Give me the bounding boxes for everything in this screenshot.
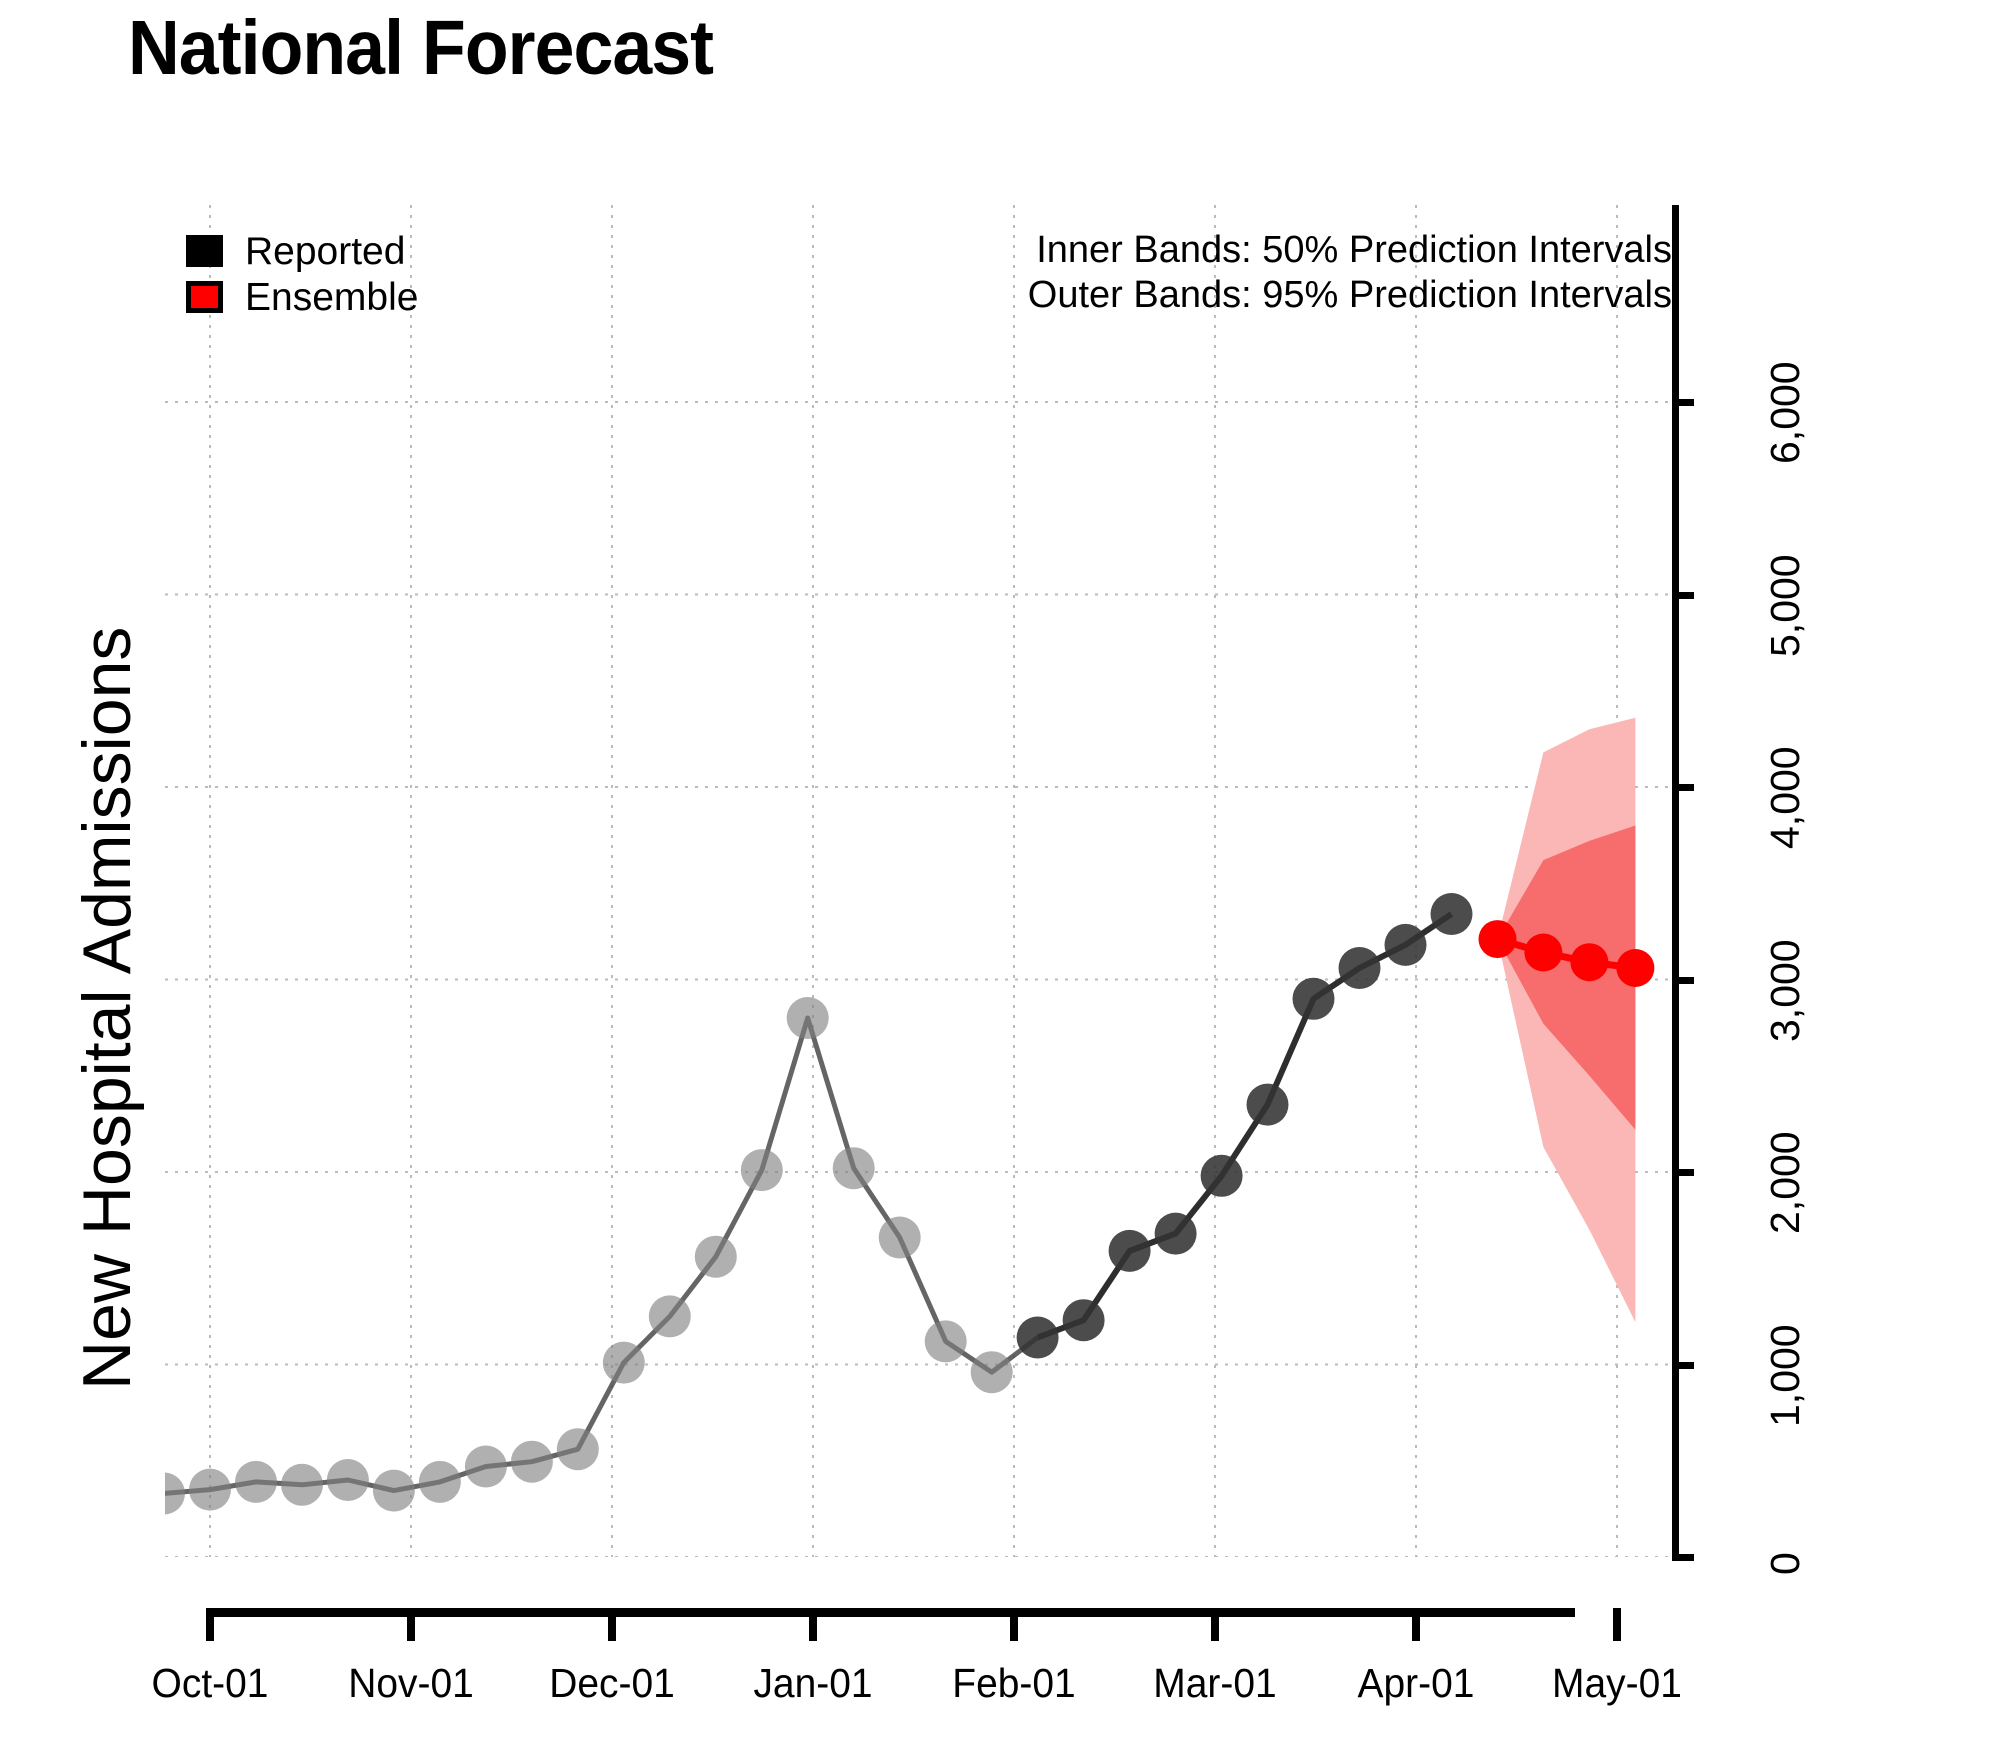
- x-axis-tick-label: Oct-01: [152, 1660, 269, 1707]
- reported-data-point: [373, 1470, 415, 1512]
- x-axis-tick: [809, 1608, 817, 1641]
- x-axis-tick-label: Feb-01: [952, 1660, 1075, 1707]
- reported-data-point: [1109, 1230, 1151, 1272]
- reported-data-point: [1431, 893, 1473, 935]
- x-axis-tick-label: Jan-01: [753, 1660, 872, 1707]
- ensemble-data-point: [1616, 949, 1654, 987]
- reported-data-point: [695, 1236, 737, 1278]
- x-axis-tick-label: Mar-01: [1153, 1660, 1276, 1707]
- x-axis-tick: [1010, 1608, 1018, 1641]
- reported-data-point: [235, 1461, 277, 1503]
- x-axis-tick-label: Nov-01: [348, 1660, 474, 1707]
- plot-area: [165, 205, 1672, 1557]
- y-axis-tick-label: 0: [1762, 1552, 1809, 1575]
- pi-note-line-outer: Outer Bands: 95% Prediction Intervals: [1028, 273, 1672, 318]
- legend-label-ensemble: Ensemble: [245, 278, 418, 317]
- x-axis-tick: [1211, 1608, 1219, 1641]
- legend: Reported Ensemble: [186, 228, 418, 320]
- reported-data-point: [787, 997, 829, 1039]
- x-axis-tick-label: Apr-01: [1358, 1660, 1475, 1707]
- y-axis-tick: [1672, 977, 1694, 984]
- y-axis-tick-label: 2,000: [1762, 1131, 1809, 1234]
- y-axis-tick: [1672, 1554, 1694, 1561]
- reported-data-point: [189, 1469, 231, 1511]
- reported-data-point: [1293, 978, 1335, 1020]
- reported-data-point: [1063, 1299, 1105, 1341]
- y-axis-tick-label: 3,000: [1762, 939, 1809, 1042]
- y-axis-tick: [1672, 592, 1694, 599]
- reported-data-point: [511, 1441, 553, 1483]
- y-axis-tick-label: 1,000: [1762, 1324, 1809, 1427]
- y-axis-tick: [1672, 1169, 1694, 1176]
- plot-canvas: [165, 205, 1672, 1557]
- pi-note-line-inner: Inner Bands: 50% Prediction Intervals: [1028, 228, 1672, 273]
- y-axis-tick: [1672, 784, 1694, 791]
- chart-root: National Forecast 01,0002,0003,0004,0005…: [0, 0, 2000, 1750]
- reported-data-point: [833, 1147, 875, 1189]
- y-axis-tick: [1672, 399, 1694, 406]
- reported-data-point: [925, 1320, 967, 1362]
- reported-data-point: [741, 1149, 783, 1191]
- reported-data-point: [879, 1217, 921, 1259]
- x-axis-tick: [1412, 1608, 1420, 1641]
- y-axis-tick: [1672, 1362, 1694, 1369]
- reported-data-point: [1339, 947, 1381, 989]
- legend-swatch-ensemble: [186, 281, 223, 313]
- ensemble-data-point: [1524, 934, 1562, 972]
- gridlines: [165, 205, 1672, 1557]
- y-axis-line: [1672, 205, 1679, 1558]
- x-axis-tick-label: May-01: [1552, 1660, 1682, 1707]
- ensemble-data-point: [1479, 920, 1517, 958]
- legend-swatch-reported: [186, 235, 223, 267]
- reported-data-point: [603, 1342, 645, 1384]
- x-axis-tick: [206, 1608, 214, 1641]
- x-axis-tick-label: Dec-01: [549, 1660, 675, 1707]
- reported-data-point: [1017, 1317, 1059, 1359]
- y-axis-tick-label: 5,000: [1762, 554, 1809, 657]
- y-axis-title: New Hospital Admissions: [68, 627, 146, 1390]
- reported-data-point: [1201, 1155, 1243, 1197]
- chart-title: National Forecast: [128, 4, 713, 93]
- reported-data-point: [649, 1295, 691, 1337]
- y-axis-tick-label: 4,000: [1762, 746, 1809, 849]
- reported-data-point: [281, 1464, 323, 1506]
- legend-item-reported: Reported: [186, 228, 418, 274]
- reported-data-point: [327, 1459, 369, 1501]
- reported-data-point: [1155, 1213, 1197, 1255]
- x-axis-tick: [407, 1608, 415, 1641]
- y-axis-tick-label: 6,000: [1762, 361, 1809, 464]
- reported-data-point: [1385, 924, 1427, 966]
- reported-data-point: [557, 1428, 599, 1470]
- reported-data-point: [1247, 1084, 1289, 1126]
- reported-data-point: [165, 1473, 185, 1515]
- reported-data-point: [465, 1446, 507, 1488]
- reported-markers: [165, 893, 1473, 1515]
- legend-item-ensemble: Ensemble: [186, 274, 418, 320]
- x-axis-tick: [608, 1608, 616, 1641]
- x-axis-tick: [1613, 1608, 1621, 1641]
- prediction-interval-note: Inner Bands: 50% Prediction Intervals Ou…: [1028, 228, 1672, 318]
- reported-line-recent: [1038, 914, 1452, 1338]
- reported-data-point: [971, 1351, 1013, 1393]
- legend-label-reported: Reported: [245, 232, 405, 271]
- reported-data-point: [419, 1461, 461, 1503]
- ensemble-data-point: [1570, 943, 1608, 981]
